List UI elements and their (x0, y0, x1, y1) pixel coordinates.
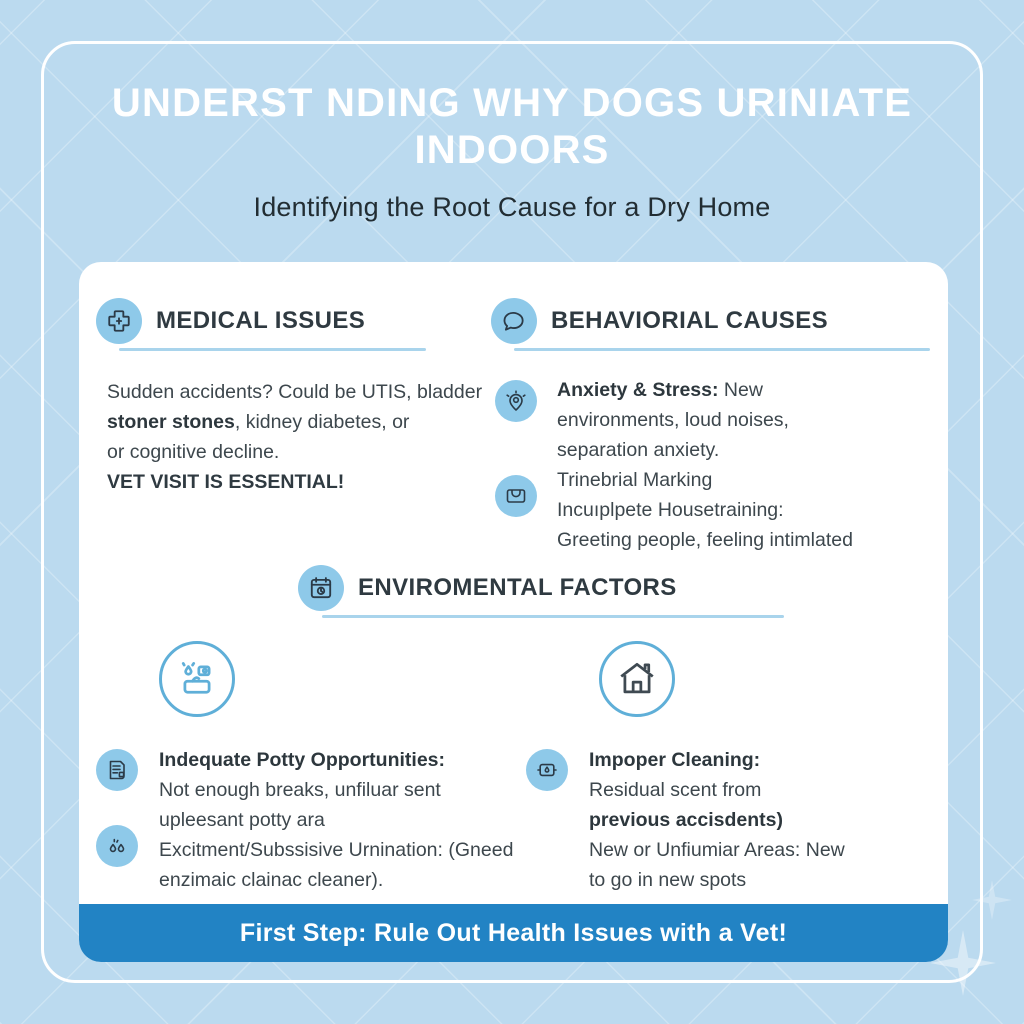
behavioral-item-1-line-2: environments, loud noises, (557, 409, 789, 431)
section-header-medical: MEDICAL ISSUES (96, 298, 365, 344)
env-right-line-5: to go in new spots (589, 869, 746, 891)
behavioral-item-2-text: Trinebrial Marking Incuıplpete Housetrai… (557, 465, 937, 555)
medical-body-text: Sudden accidents? Could be UTIS, bladder… (107, 377, 507, 497)
spray-bottle-icon (526, 749, 568, 791)
section-title-behavioral: BEHAVIORIAL CAUSES (551, 307, 828, 335)
env-right-line-4: New or Unfiumiar Areas: New (589, 839, 845, 861)
env-left-line-4: Excitment/Subssisive Urnination: (Gneed (159, 839, 513, 861)
environmental-left-text: Indequate Potty Opportunities: Not enoug… (159, 745, 579, 895)
section-header-behavioral: BEHAVIORIAL CAUSES (491, 298, 828, 344)
location-pin-icon (495, 380, 537, 422)
env-left-line-2: Not enough breaks, unfiluar sent (159, 779, 441, 801)
environmental-right-text: Impoper Cleaning: Residual scent from pr… (589, 745, 939, 895)
medical-line-2-mid: , kidney dia (235, 411, 334, 433)
cta-banner: First Step: Rule Out Health Issues with … (79, 904, 948, 962)
calendar-clock-icon (298, 565, 344, 611)
behavioral-item-2-line-1: Trinebrial Marking (557, 469, 712, 491)
behavioral-item-1-text: Anxiety & Stress: New environments, loud… (557, 375, 917, 465)
section-underline-medical (119, 348, 426, 351)
speech-bubble-icon (491, 298, 537, 344)
poster-header: UNDERST NDING WHY DOGS URINIATE INDOORS … (80, 80, 944, 223)
behavioral-item-1-rest: New (718, 379, 762, 401)
section-underline-environmental (322, 615, 784, 618)
pet-mat-icon (495, 475, 537, 517)
page-subtitle: Identifying the Root Cause for a Dry Hom… (80, 192, 944, 223)
document-list-icon (96, 749, 138, 791)
env-left-line-5: enzimaic clainac cleaner). (159, 869, 383, 891)
env-right-lead: Impoper Cleaning: (589, 749, 760, 771)
behavioral-item-2-line-2: Incuıplpete Housetraining: (557, 499, 784, 521)
env-right-line-3: previous accisdents) (589, 809, 783, 831)
env-right-line-2: Residual scent from (589, 779, 761, 801)
behavioral-item-1-lead: Anxiety & Stress: (557, 379, 718, 401)
sparkle-icon (972, 880, 1012, 920)
medical-line-2-bold: stoner stones (107, 411, 235, 433)
page-title: UNDERST NDING WHY DOGS URINIATE INDOORS (80, 80, 944, 174)
behavioral-item-2-line-3: Greeting people, feeling intimlated (557, 529, 853, 551)
env-left-line-3: upleesant potty ara (159, 809, 325, 831)
medical-line-1: Sudden accidents? Could be UTIS, bladder (107, 381, 482, 403)
behavioral-item-1-line-3: separation anxiety. (557, 439, 719, 461)
house-icon (599, 641, 675, 717)
medical-line-2-end: betes, or (334, 411, 410, 433)
medical-cross-icon (96, 298, 142, 344)
droplets-icon (96, 825, 138, 867)
section-title-medical: MEDICAL ISSUES (156, 307, 365, 335)
content-card: MEDICAL ISSUES Sudden accidents? Could b… (79, 262, 948, 962)
env-left-lead: Indequate Potty Opportunities: (159, 749, 445, 771)
cleaning-wipes-icon (159, 641, 235, 717)
section-header-environmental: ENVIROMENTAL FACTORS (298, 565, 677, 611)
section-underline-behavioral (514, 348, 930, 351)
medical-line-3: or cognitive decline. (107, 441, 279, 463)
infographic-poster: UNDERST NDING WHY DOGS URINIATE INDOORS … (0, 0, 1024, 1024)
medical-line-4: VET VISIT IS ESSENTIAL! (107, 471, 344, 493)
cta-banner-text: First Step: Rule Out Health Issues with … (240, 919, 787, 948)
section-title-environmental: ENVIROMENTAL FACTORS (358, 574, 677, 602)
